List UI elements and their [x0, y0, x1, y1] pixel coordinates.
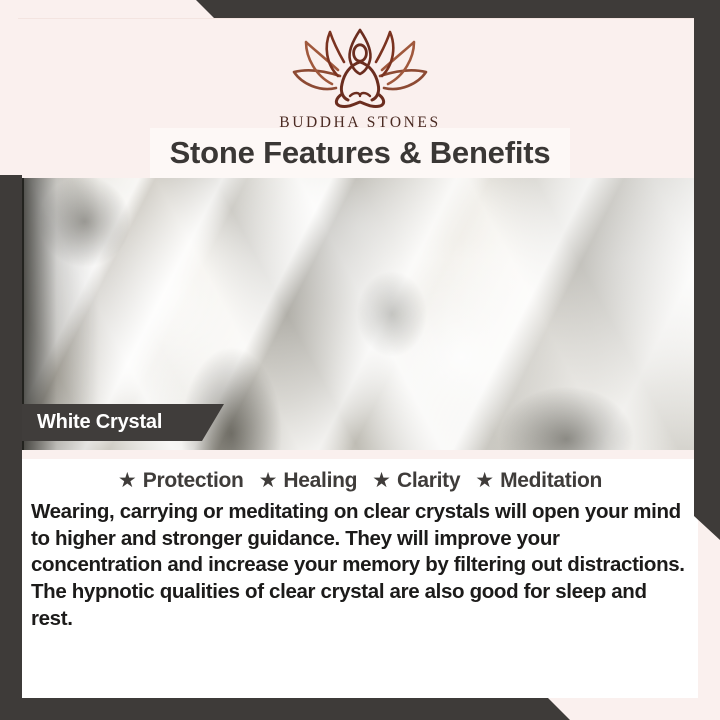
header-divider: [18, 18, 694, 23]
lotus-meditation-icon: [280, 26, 440, 112]
benefit-label: Clarity: [397, 469, 460, 493]
benefit-item-meditation: ★ Meditation: [475, 469, 602, 493]
brand-logo: BUDDHA STONES: [0, 26, 720, 132]
benefits-list: ★ Protection ★ Healing ★ Clarity ★ Medit…: [22, 459, 698, 493]
content-panel: ★ Protection ★ Healing ★ Clarity ★ Medit…: [22, 459, 698, 698]
benefit-label: Meditation: [500, 469, 602, 493]
product-info-card: BUDDHA STONES Stone Features & Benefits …: [0, 0, 720, 720]
title-banner: Stone Features & Benefits: [150, 128, 570, 178]
star-icon: ★: [475, 470, 494, 491]
benefit-item-protection: ★ Protection: [118, 469, 244, 493]
page-title: Stone Features & Benefits: [170, 135, 551, 171]
benefit-item-healing: ★ Healing: [259, 469, 358, 493]
star-icon: ★: [118, 470, 137, 491]
benefit-label: Healing: [283, 469, 357, 493]
frame-bar-bottom: [0, 698, 720, 720]
star-icon: ★: [372, 470, 391, 491]
stone-name-badge: White Crystal: [0, 404, 224, 441]
benefit-item-clarity: ★ Clarity: [372, 469, 460, 493]
star-icon: ★: [259, 470, 278, 491]
frame-bar-left: [0, 175, 22, 705]
description-text: Wearing, carrying or meditating on clear…: [31, 499, 688, 632]
photo-separator: [22, 450, 698, 459]
benefit-label: Protection: [143, 469, 244, 493]
stone-name-label: White Crystal: [37, 411, 162, 434]
frame-bar-right: [694, 0, 720, 540]
